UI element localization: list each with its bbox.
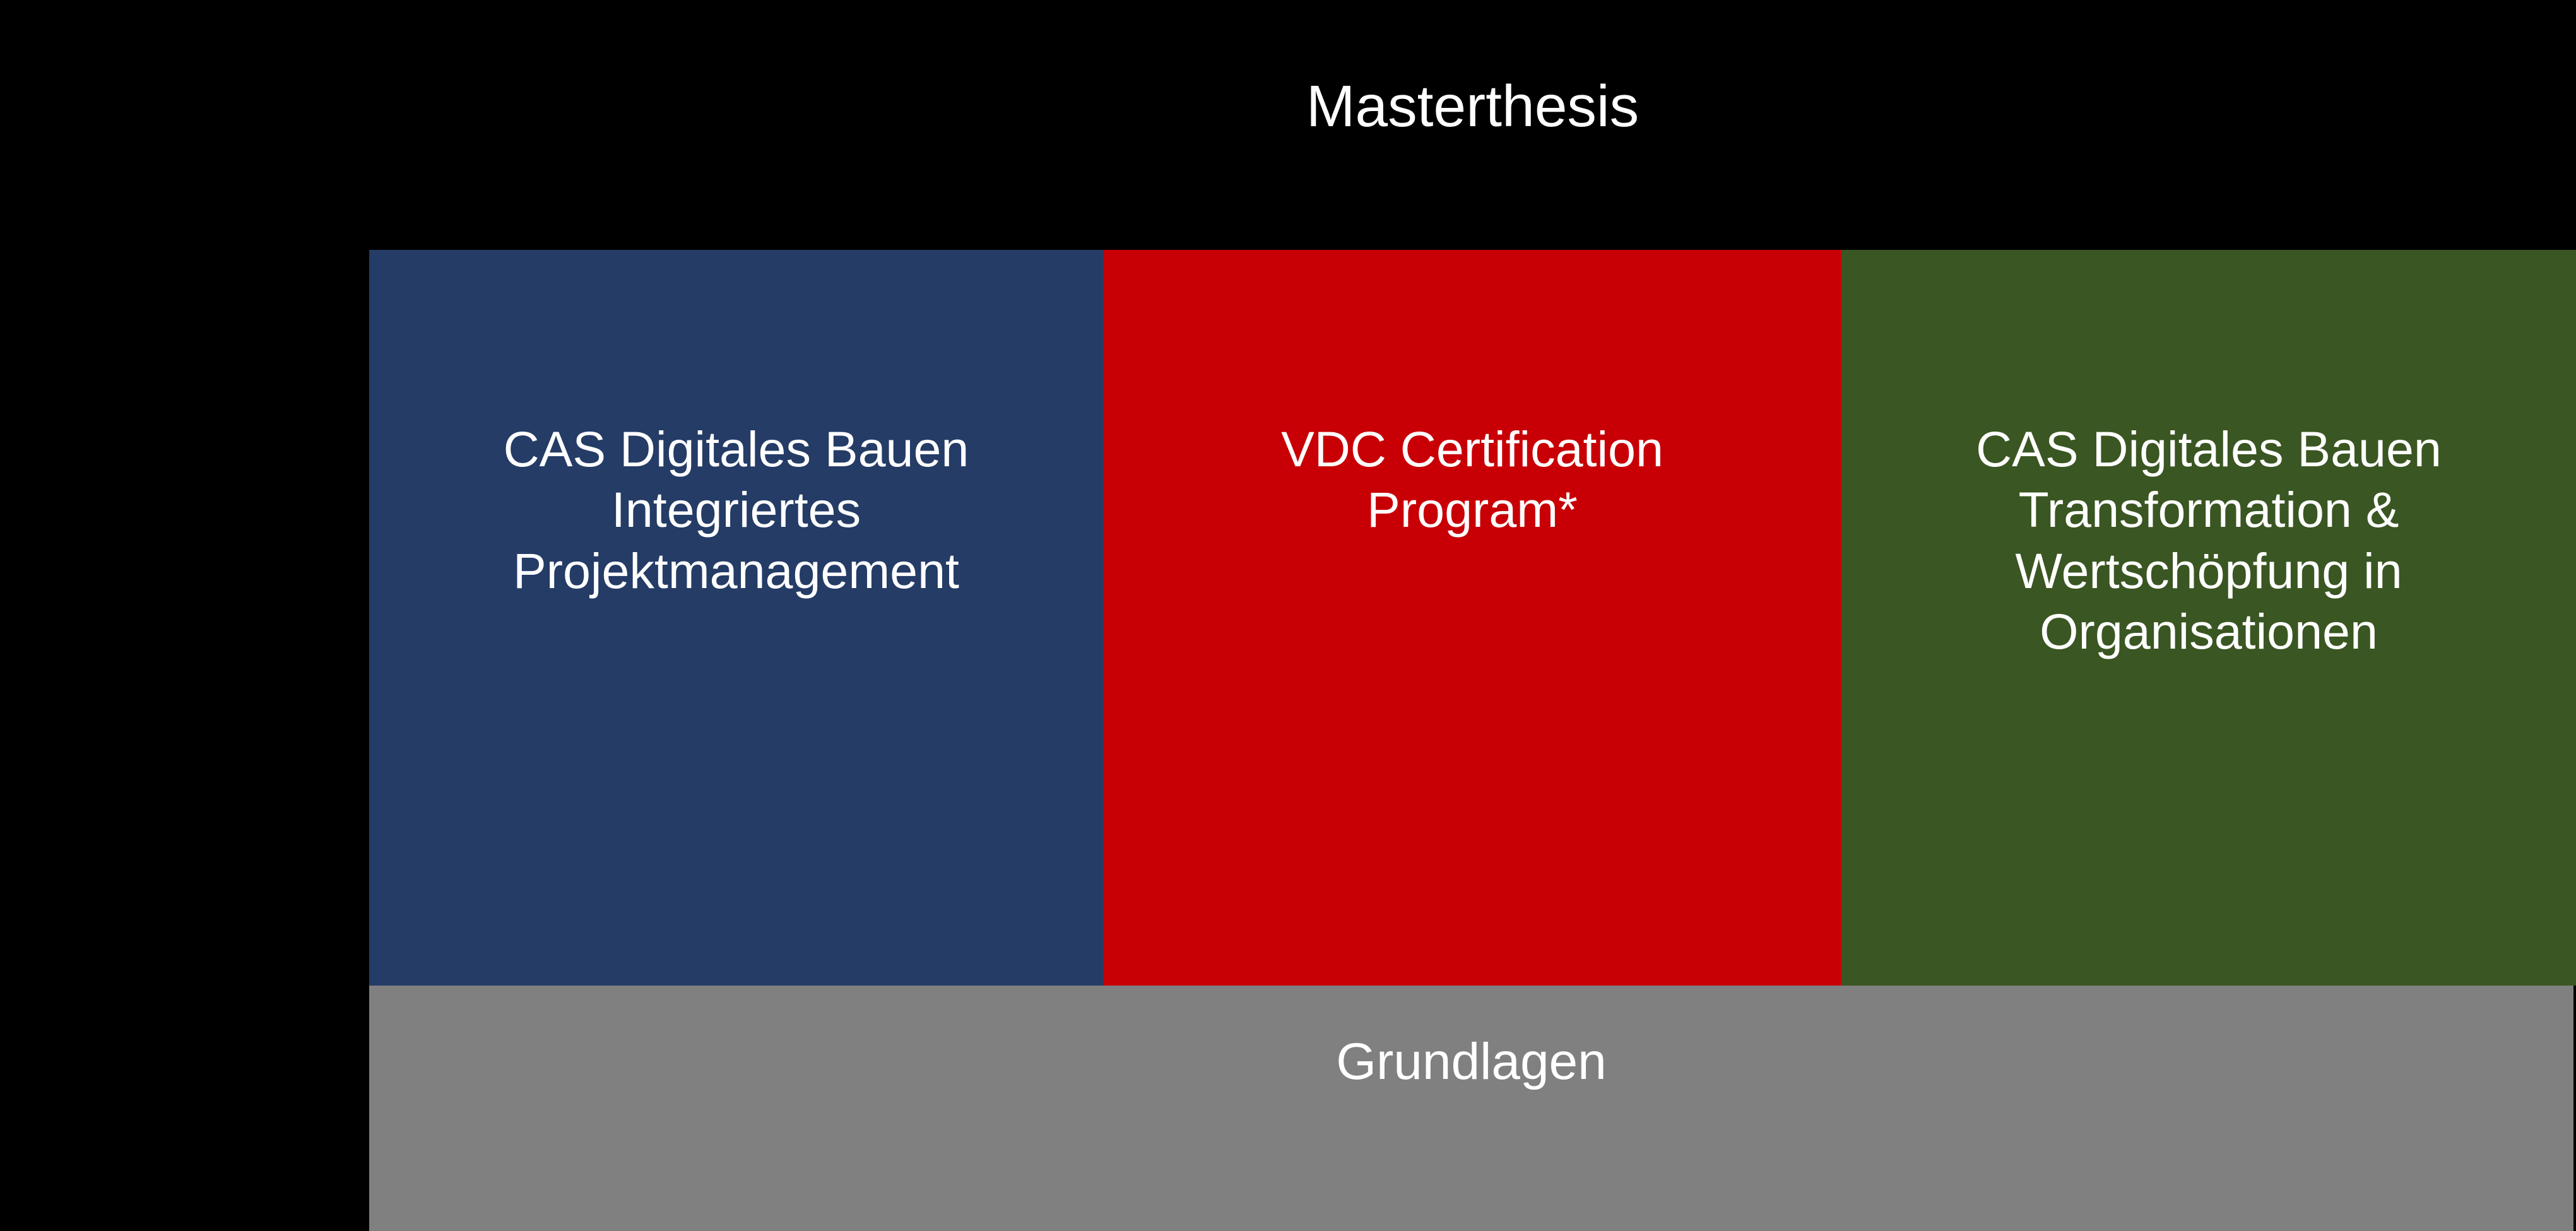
pillar-label: CAS Digitales Bauen Integriertes Projekt… bbox=[386, 419, 1087, 601]
pillar-vdc-certification-program[interactable]: VDC Certification Program* bbox=[1103, 250, 1841, 986]
page-title: Masterthesis bbox=[369, 74, 2576, 138]
pillar-label: CAS Digitales Bauen Transformation & Wer… bbox=[1858, 419, 2560, 663]
pillar-label: VDC Certification Program* bbox=[1120, 419, 1825, 541]
pillar-row: CAS Digitales Bauen Integriertes Projekt… bbox=[369, 250, 2576, 986]
foundation-label: Grundlagen bbox=[369, 1034, 2573, 1090]
pillar-integrated-projektmanagement[interactable]: CAS Digitales Bauen Integriertes Projekt… bbox=[369, 250, 1103, 986]
curriculum-diagram: Masterthesis CAS Digitales Bauen Integri… bbox=[0, 0, 2576, 1231]
foundation-bar[interactable]: Grundlagen bbox=[369, 986, 2573, 1231]
pillar-transformation-wertschoepfung[interactable]: CAS Digitales Bauen Transformation & Wer… bbox=[1841, 250, 2576, 986]
